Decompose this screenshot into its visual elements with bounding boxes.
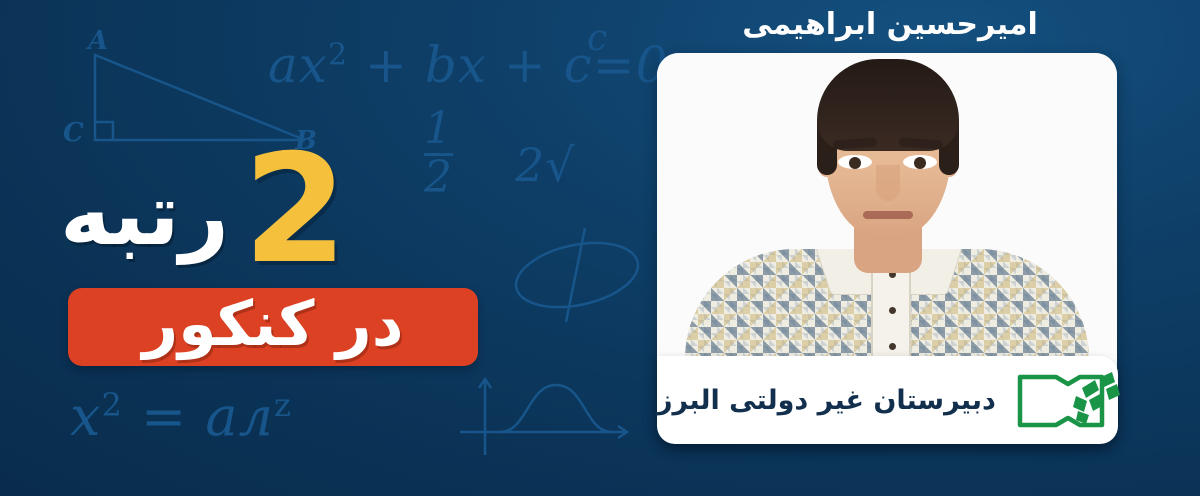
math-triangle-vertex-a: A — [88, 26, 109, 56]
portrait-shirt-button — [889, 307, 896, 314]
school-name-strip: دبیرستان غیر دولتی البرز — [657, 356, 1118, 444]
math-letter-c: c — [587, 18, 608, 59]
math-quadratic-equation: ax2 + bx + c=0 — [268, 36, 668, 94]
portrait-illustration — [657, 53, 1117, 356]
portrait-eye-right — [903, 155, 937, 169]
student-photo — [657, 53, 1117, 356]
phi-ellipse-shape — [510, 228, 644, 322]
math-bottom-equation: x2 = aлz — [70, 385, 292, 448]
konkur-badge-label: در کنکور — [142, 293, 403, 355]
bell-curve-graph-shape — [460, 379, 627, 455]
portrait-eye-left — [838, 155, 872, 169]
portrait-shirt-button — [889, 343, 896, 350]
student-name: امیرحسین ابراهیمی — [660, 2, 1120, 48]
portrait-hair — [817, 59, 959, 151]
open-book-with-flag-icon — [1016, 367, 1120, 433]
rank-banner: ax2 + bx + c=0 c 1 2 √2 x2 = aлz A B C ر… — [0, 0, 1200, 496]
portrait-nose — [876, 165, 900, 201]
konkur-badge: در کنکور — [68, 288, 478, 366]
math-square-root-two: √2 — [515, 138, 576, 192]
school-name: دبیرستان غیر دولتی البرز — [657, 385, 996, 416]
portrait-mouth — [863, 211, 913, 219]
flag-blocks — [1073, 372, 1120, 424]
rank-number: 2 — [243, 150, 347, 270]
portrait-pupil-right — [914, 157, 926, 169]
rank-label: رتبه — [60, 172, 229, 258]
rank-headline: رتبه 2 — [60, 144, 490, 286]
portrait-pupil-left — [849, 157, 861, 169]
